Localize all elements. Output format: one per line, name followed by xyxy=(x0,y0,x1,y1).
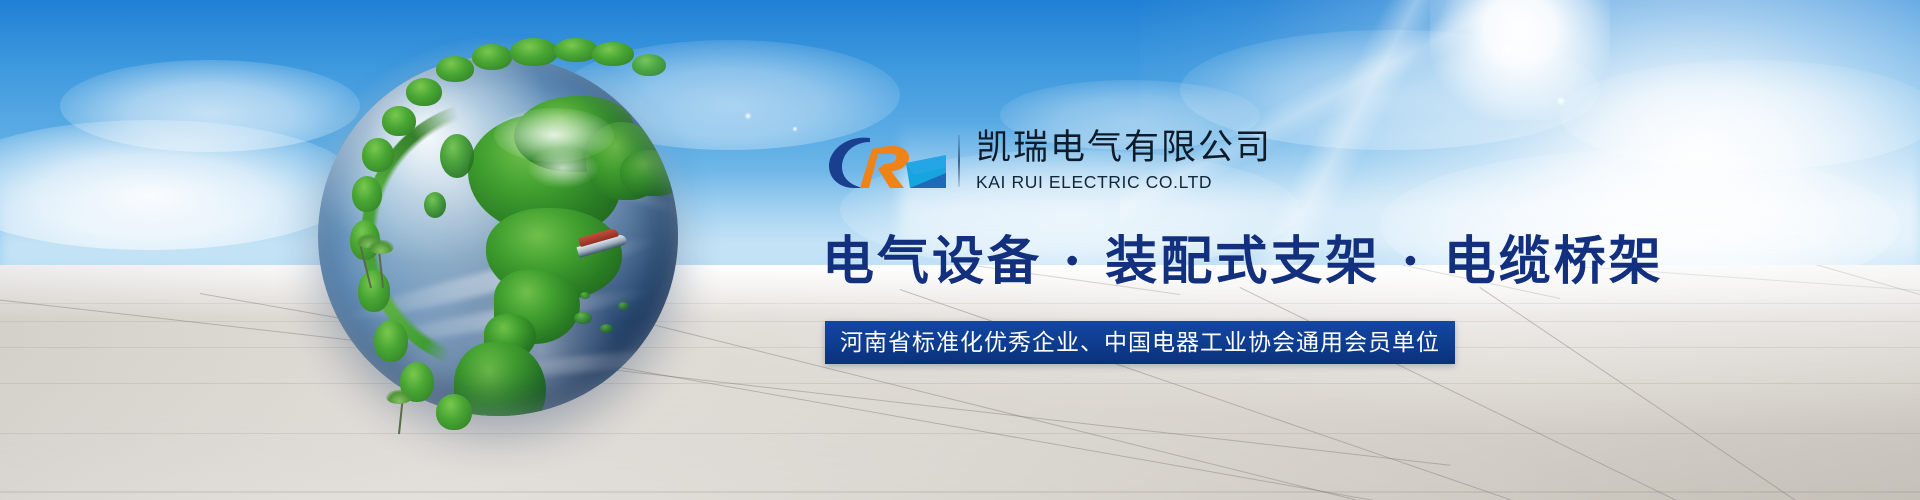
pavement-line-h xyxy=(0,433,1920,434)
pavement-line-h xyxy=(0,303,1920,304)
company-name-en: KAI RUI ELECTRIC CO.LTD xyxy=(976,171,1272,193)
pavement-line-h xyxy=(0,491,1920,493)
certification-badge-text: 河南省标准化优秀企业、中国电器工业协会通用会员单位 xyxy=(840,330,1440,356)
company-name-cn: 凯瑞电气有限公司 xyxy=(976,128,1272,168)
pavement-line-h xyxy=(0,383,1920,384)
hero-banner: 凯瑞电气有限公司 KAI RUI ELECTRIC CO.LTD 电气设备 · … xyxy=(0,0,1920,500)
tagline: 电气设备 · 装配式支架 · 电缆桥架 xyxy=(822,232,1664,292)
kairui-cr-monogram-icon xyxy=(824,133,950,189)
logo-divider xyxy=(958,135,960,187)
pavement-ground xyxy=(0,265,1920,500)
certification-badge: 河南省标准化优秀企业、中国电器工业协会通用会员单位 xyxy=(825,321,1455,364)
company-logo[interactable]: 凯瑞电气有限公司 KAI RUI ELECTRIC CO.LTD xyxy=(824,128,1272,193)
logo-text-group: 凯瑞电气有限公司 KAI RUI ELECTRIC CO.LTD xyxy=(976,128,1272,193)
